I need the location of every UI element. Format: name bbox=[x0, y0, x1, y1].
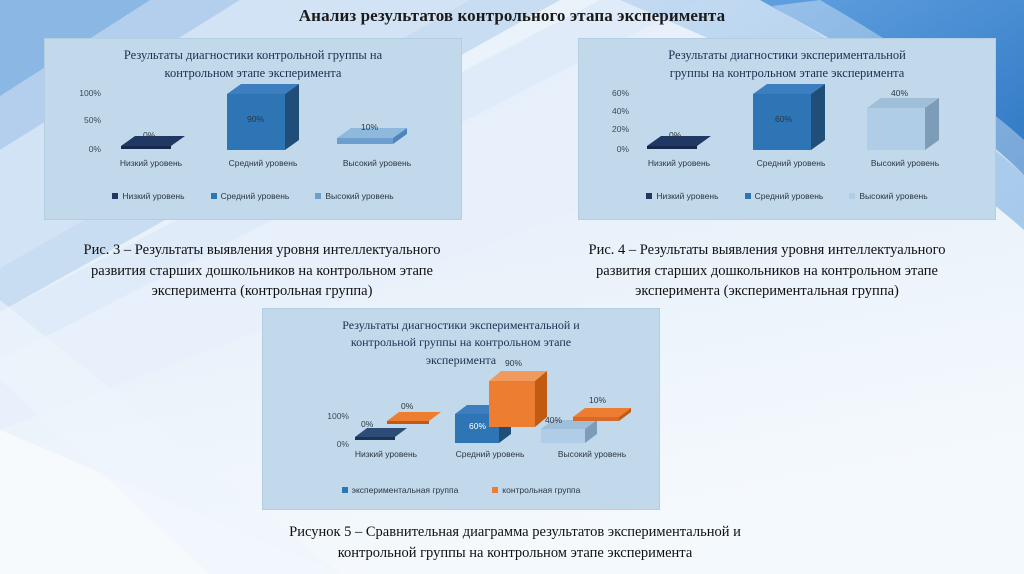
legend-label: Низкий уровень bbox=[656, 191, 718, 201]
x-tick-label-high: Высокий уровень bbox=[317, 158, 437, 168]
x-tick-label-mid: Средний уровень bbox=[203, 158, 323, 168]
x-tick-label-high: Высокий уровень bbox=[845, 158, 965, 168]
legend-item-experimental[interactable]: экспериментальная группа bbox=[342, 485, 459, 495]
bar-value-label: 60% bbox=[775, 114, 792, 124]
bar-3d-shape bbox=[387, 405, 441, 427]
legend-label: Средний уровень bbox=[221, 191, 290, 201]
legend-swatch-control bbox=[492, 487, 498, 493]
bar-high-control[interactable]: 10% bbox=[573, 403, 631, 429]
legend-label: Высокий уровень bbox=[325, 191, 393, 201]
bar-3d-shape bbox=[867, 96, 939, 152]
legend-swatch-high bbox=[315, 193, 321, 199]
legend-swatch-low bbox=[646, 193, 652, 199]
page-title: Анализ результатов контрольного этапа эк… bbox=[0, 6, 1024, 26]
y-tick-label: 60% bbox=[612, 88, 629, 98]
legend-item-mid[interactable]: Средний уровень bbox=[745, 191, 824, 201]
chart-title-experimental-group: Результаты диагностики экспериментальной… bbox=[579, 39, 995, 82]
legend-swatch-experimental bbox=[342, 487, 348, 493]
caption-figure-3: Рис. 3 – Результаты выявления уровня инт… bbox=[22, 240, 502, 302]
y-tick-label: 0% bbox=[89, 144, 101, 154]
caption-line: Рисунок 5 – Сравнительная диаграмма резу… bbox=[150, 522, 880, 543]
bar-value-label: 40% bbox=[891, 88, 908, 98]
bar-value-label: 0% bbox=[401, 401, 413, 411]
bar-value-label: 60% bbox=[469, 421, 486, 431]
plot-area-experimental-group: 60% 40% 20% 0% 0% 60% bbox=[579, 82, 995, 178]
legend-item-control[interactable]: контрольная группа bbox=[492, 485, 580, 495]
legend-swatch-mid bbox=[211, 193, 217, 199]
bar-value-label: 40% bbox=[545, 415, 562, 425]
bar-high-level[interactable]: 40% bbox=[867, 96, 939, 152]
caption-line: эксперимента (экспериментальная группа) bbox=[524, 281, 1010, 302]
bar-value-label: 10% bbox=[589, 395, 606, 405]
x-tick-label-low: Низкий уровень bbox=[331, 449, 441, 459]
bar-3d-shape bbox=[573, 403, 631, 429]
legend-swatch-low bbox=[112, 193, 118, 199]
chart-title-comparison: Результаты диагностики экспериментальной… bbox=[263, 309, 659, 369]
legend-label: Высокий уровень bbox=[859, 191, 927, 201]
x-tick-label-mid: Средний уровень bbox=[731, 158, 851, 168]
bar-value-label: 10% bbox=[361, 122, 378, 132]
x-tick-label-low: Низкий уровень bbox=[619, 158, 739, 168]
legend-swatch-mid bbox=[745, 193, 751, 199]
caption-line: контрольной группы на контрольном этапе … bbox=[150, 543, 880, 564]
caption-figure-4: Рис. 4 – Результаты выявления уровня инт… bbox=[524, 240, 1010, 302]
legend-label: Средний уровень bbox=[755, 191, 824, 201]
chart-title-line: контрольной группы на контрольном этапе bbox=[309, 334, 613, 351]
caption-line: развития старших дошкольников на контрол… bbox=[524, 261, 1010, 282]
x-tick-label-high: Высокий уровень bbox=[537, 449, 647, 459]
bar-mid-level[interactable]: 60% bbox=[753, 84, 825, 152]
x-tick-label-mid: Средний уровень bbox=[435, 449, 545, 459]
legend-item-high[interactable]: Высокий уровень bbox=[315, 191, 393, 201]
y-tick-label: 0% bbox=[617, 144, 629, 154]
bar-value-label: 0% bbox=[361, 419, 373, 429]
y-tick-label: 100% bbox=[327, 411, 349, 421]
caption-line: эксперимента (контрольная группа) bbox=[22, 281, 502, 302]
plot-area-control-group: 100% 50% 0% 0% 90% bbox=[45, 82, 461, 178]
legend-item-low[interactable]: Низкий уровень bbox=[646, 191, 718, 201]
legend-comparison: экспериментальная группа контрольная гру… bbox=[263, 485, 659, 495]
bar-high-level[interactable]: 10% bbox=[337, 122, 407, 150]
legend-label: экспериментальная группа bbox=[352, 485, 459, 495]
chart-title-line: Результаты диагностики экспериментальной… bbox=[309, 317, 613, 334]
legend-item-high[interactable]: Высокий уровень bbox=[849, 191, 927, 201]
legend-label: контрольная группа bbox=[502, 485, 580, 495]
chart-title-line: Результаты диагностики контрольной групп… bbox=[71, 46, 435, 64]
bar-mid-level[interactable]: 90% bbox=[227, 84, 299, 152]
bar-3d-shape bbox=[489, 371, 547, 429]
chart-title-line: эксперимента bbox=[309, 352, 613, 369]
caption-line: Рис. 3 – Результаты выявления уровня инт… bbox=[22, 240, 502, 261]
caption-line: Рис. 4 – Результаты выявления уровня инт… bbox=[524, 240, 1010, 261]
legend-item-low[interactable]: Низкий уровень bbox=[112, 191, 184, 201]
legend-swatch-high bbox=[849, 193, 855, 199]
legend-label: Низкий уровень bbox=[122, 191, 184, 201]
chart-title-line: Результаты диагностики экспериментальной bbox=[605, 46, 969, 64]
caption-line: развития старших дошкольников на контрол… bbox=[22, 261, 502, 282]
caption-figure-5: Рисунок 5 – Сравнительная диаграмма резу… bbox=[150, 522, 880, 563]
y-tick-label: 20% bbox=[612, 124, 629, 134]
legend-item-mid[interactable]: Средний уровень bbox=[211, 191, 290, 201]
y-tick-label: 0% bbox=[337, 439, 349, 449]
chart-panel-experimental-group: Результаты диагностики экспериментальной… bbox=[578, 38, 996, 220]
bar-value-label: 90% bbox=[247, 114, 264, 124]
bar-low-level[interactable]: 0% bbox=[121, 130, 185, 150]
legend-control-group: Низкий уровень Средний уровень Высокий у… bbox=[45, 191, 461, 201]
y-tick-label: 40% bbox=[612, 106, 629, 116]
bar-low-control[interactable]: 0% bbox=[387, 405, 441, 427]
bar-value-label: 90% bbox=[505, 358, 522, 368]
chart-panel-comparison: Результаты диагностики экспериментальной… bbox=[262, 308, 660, 510]
legend-experimental-group: Низкий уровень Средний уровень Высокий у… bbox=[579, 191, 995, 201]
chart-title-line: группы на контрольном этапе эксперимента bbox=[605, 64, 969, 82]
chart-title-line: контрольном этапе эксперимента bbox=[71, 64, 435, 82]
chart-panel-control-group: Результаты диагностики контрольной групп… bbox=[44, 38, 462, 220]
x-tick-label-low: Низкий уровень bbox=[91, 158, 211, 168]
y-tick-label: 100% bbox=[79, 88, 101, 98]
plot-area-comparison: 100% 0% 0% 0% 60% bbox=[263, 369, 659, 469]
bar-value-label: 0% bbox=[669, 130, 681, 140]
bar-mid-control[interactable]: 90% bbox=[489, 371, 547, 429]
chart-title-control-group: Результаты диагностики контрольной групп… bbox=[45, 39, 461, 82]
bar-low-level[interactable]: 0% bbox=[647, 130, 711, 150]
y-tick-label: 50% bbox=[84, 115, 101, 125]
bar-value-label: 0% bbox=[143, 130, 155, 140]
